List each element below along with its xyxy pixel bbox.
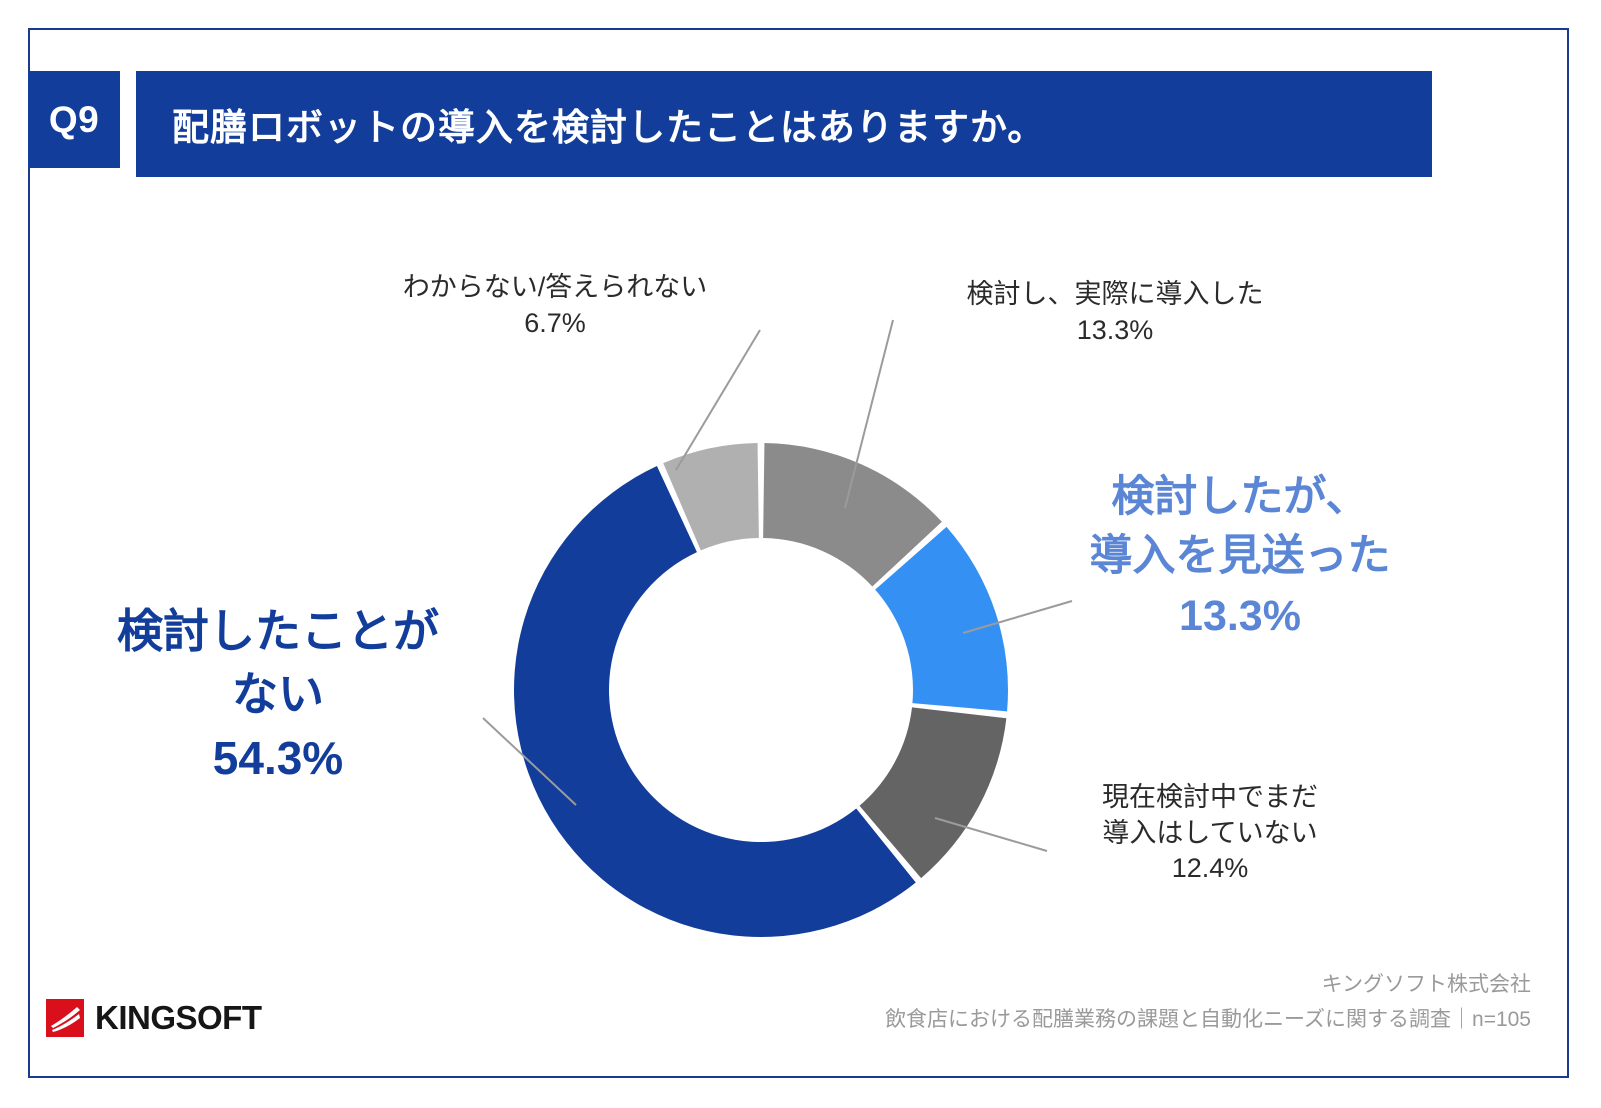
slice-label-adopted-text: 検討し、実際に導入した [905, 277, 1325, 313]
donut-chart: わからない/答えられない 6.7% 検討し、実際に導入した 13.3% 検討した… [0, 0, 1601, 1108]
kingsoft-logo-mark-icon [46, 999, 84, 1037]
slice-label-never-line1: 検討したことが [58, 600, 498, 663]
slice-label-declined-line1: 検討したが、 [1040, 468, 1440, 527]
slice-label-considering: 現在検討中でまだ 導入はしていない 12.4% [1040, 780, 1380, 887]
slice-label-declined-value: 13.3% [1040, 587, 1440, 646]
slice-label-considering-value: 12.4% [1040, 851, 1380, 887]
slide-root: Q9 配膳ロボットの導入を検討したことはありますか。 わからない/答えられない … [0, 0, 1601, 1108]
slice-label-never-line2: ない [58, 663, 498, 726]
kingsoft-logo-text: KINGSOFT [95, 999, 262, 1037]
slice-label-never: 検討したことが ない 54.3% [58, 600, 498, 790]
kingsoft-swoosh-icon [46, 999, 84, 1037]
slice-label-unknown: わからない/答えられない 6.7% [345, 270, 765, 341]
donut-slice-group [514, 443, 1008, 937]
slice-label-never-value: 54.3% [58, 727, 498, 790]
slice-label-declined: 検討したが、 導入を見送った 13.3% [1040, 468, 1440, 646]
footer-company: キングソフト株式会社 [885, 968, 1531, 1003]
footer-survey: 飲食店における配膳業務の課題と自動化ニーズに関する調査｜n=105 [885, 1003, 1531, 1038]
slice-label-considering-line1: 現在検討中でまだ [1040, 780, 1380, 816]
slice-label-considering-line2: 導入はしていない [1040, 816, 1380, 852]
slice-label-unknown-value: 6.7% [345, 306, 765, 342]
slice-label-unknown-text: わからない/答えられない [345, 270, 765, 306]
slice-label-declined-line2: 導入を見送った [1040, 527, 1440, 586]
slice-label-adopted: 検討し、実際に導入した 13.3% [905, 277, 1325, 348]
kingsoft-logo: KINGSOFT [46, 999, 262, 1037]
slice-label-adopted-value: 13.3% [905, 313, 1325, 349]
footer-meta: キングソフト株式会社 飲食店における配膳業務の課題と自動化ニーズに関する調査｜n… [885, 968, 1531, 1037]
